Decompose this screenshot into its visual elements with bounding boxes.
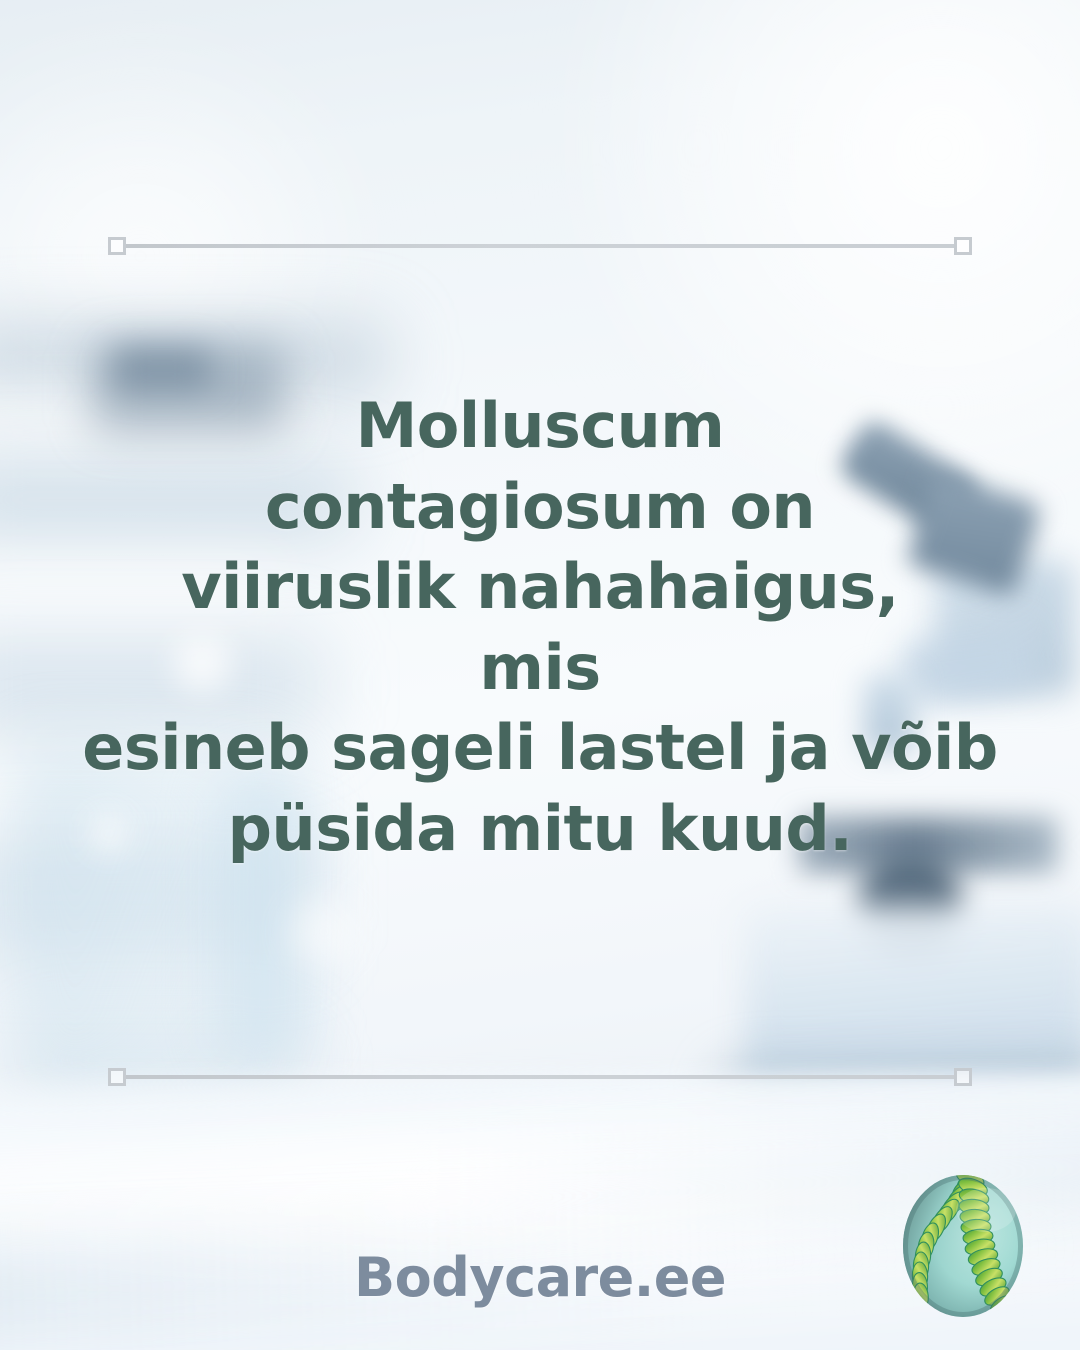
divider-square-cap-right [954,237,972,255]
divider-line [126,1075,954,1079]
bodycare-helix-logo [896,1170,1030,1322]
bottom-divider [108,1068,972,1086]
divider-square-cap-left [108,1068,126,1086]
divider-square-cap-left [108,237,126,255]
top-divider [108,237,972,255]
divider-square-cap-right [954,1068,972,1086]
headline-text: Molluscum contagiosum on viiruslik nahah… [0,386,1080,870]
divider-line [126,244,954,248]
social-post-card: Molluscum contagiosum on viiruslik nahah… [0,0,1080,1350]
